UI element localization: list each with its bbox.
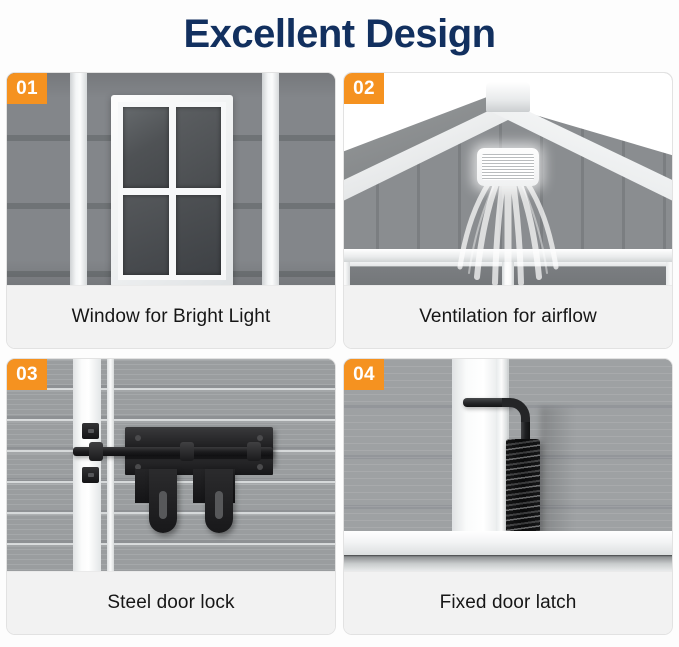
window-pane-top-right bbox=[176, 107, 222, 188]
bolt-keeper-lower bbox=[82, 467, 99, 483]
ground-surface bbox=[344, 555, 672, 571]
bolt-keeper-upper bbox=[82, 423, 99, 439]
vent-louvers bbox=[482, 154, 534, 180]
bolt-knob-right bbox=[247, 442, 261, 461]
card-02-caption: Ventilation for airflow bbox=[344, 285, 672, 348]
lock-hasp-left bbox=[149, 469, 177, 533]
window-pane-bottom-right bbox=[176, 195, 222, 276]
lock-screw-4 bbox=[257, 464, 263, 470]
hasp-slot-right bbox=[215, 491, 223, 519]
card-03-badge: 03 bbox=[7, 359, 47, 390]
lock-hasp-right bbox=[205, 469, 233, 533]
window-pane-top-left bbox=[123, 107, 169, 188]
card-03-caption: Steel door lock bbox=[7, 571, 335, 634]
card-04-badge: 04 bbox=[344, 359, 384, 390]
feature-card-grid: 01 Window for Bright Light bbox=[6, 72, 673, 642]
window-panes bbox=[118, 102, 226, 280]
lock-screw-2 bbox=[257, 435, 263, 441]
card-02-badge: 02 bbox=[344, 73, 384, 104]
card-04-caption: Fixed door latch bbox=[344, 571, 672, 634]
window-frame bbox=[111, 95, 233, 285]
card-02-photo: 02 bbox=[344, 73, 672, 285]
feature-card-04[interactable]: 04 Fixed door latch bbox=[343, 358, 673, 635]
card-04-photo: 04 bbox=[344, 359, 672, 571]
door-edge-right bbox=[666, 262, 672, 285]
card-01-photo: 01 bbox=[7, 73, 335, 285]
door-edge-left bbox=[344, 262, 350, 285]
feature-card-03[interactable]: 03 Steel door lock bbox=[6, 358, 336, 635]
card-03-photo: 03 bbox=[7, 359, 335, 571]
window-pane-bottom-left bbox=[123, 195, 169, 276]
ventilation-grille-icon bbox=[477, 148, 539, 186]
wall-trim-left bbox=[70, 73, 87, 285]
feature-card-02[interactable]: 02 Ventilation for airflow bbox=[343, 72, 673, 349]
wall-trim-right bbox=[262, 73, 279, 285]
door-sill bbox=[344, 531, 672, 555]
bolt-knob-middle bbox=[180, 442, 194, 461]
airflow-streams-icon bbox=[448, 181, 568, 285]
roof-ridge-cap bbox=[486, 82, 530, 112]
bolt-knob-left bbox=[89, 442, 103, 461]
card-01-caption: Window for Bright Light bbox=[7, 285, 335, 348]
keeper-dot-lower bbox=[88, 473, 94, 477]
door-trim-thin bbox=[107, 359, 114, 571]
slide-bolt-rod bbox=[73, 447, 273, 456]
page-title: Excellent Design bbox=[0, 0, 679, 54]
lock-screw-1 bbox=[135, 435, 141, 441]
card-01-badge: 01 bbox=[7, 73, 47, 104]
door-trim-wide bbox=[73, 359, 101, 571]
hasp-slot-left bbox=[159, 491, 167, 519]
feature-card-01[interactable]: 01 Window for Bright Light bbox=[6, 72, 336, 349]
keeper-dot-upper bbox=[88, 429, 94, 433]
